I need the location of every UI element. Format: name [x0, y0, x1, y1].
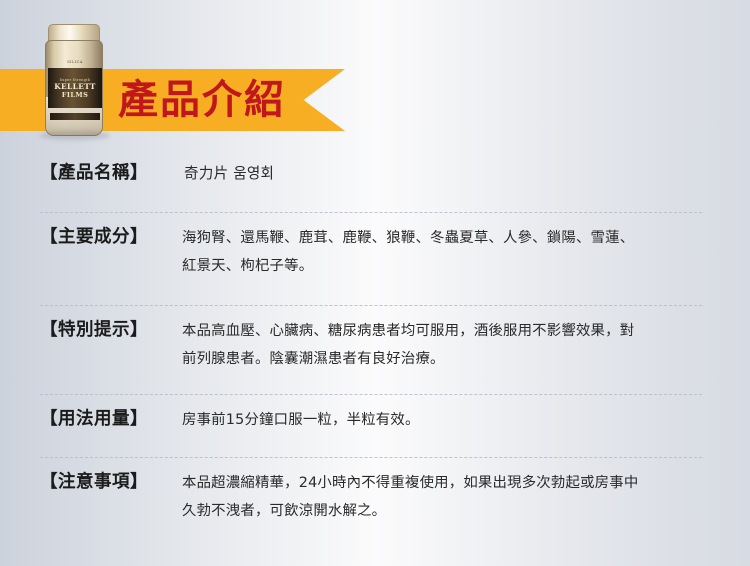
page-header: 產品介紹 SILICA Super Strength KELLETT FILMS	[0, 0, 750, 150]
page-title: 產品介紹	[118, 74, 286, 126]
info-label: 【產品名稱】	[40, 159, 182, 187]
bottle-body: SILICA Super Strength KELLETT FILMS	[45, 40, 103, 136]
product-info-list: 【產品名稱】 奇力片 움영회 【主要成分】 海狗腎、還馬鞭、鹿茸、鹿鞭、狼鞭、冬…	[0, 150, 750, 550]
info-row-dosage: 【用法用量】 房事前15分鐘口服一粒，半粒有效。	[0, 395, 750, 457]
info-value: 房事前15分鐘口服一粒，半粒有效。	[182, 405, 706, 434]
info-value-line: 奇力片 움영회	[184, 160, 706, 188]
bottle-sub-brand-text: FILMS	[62, 92, 88, 99]
info-value-line: 海狗腎、還馬鞭、鹿茸、鹿鞭、狼鞭、冬蟲夏草、人參、鎖陽、雪蓮、	[182, 224, 706, 252]
bottle-brand-text: KELLETT	[54, 83, 96, 91]
info-value-line: 前列腺患者。陰囊潮濕患者有良好治療。	[182, 345, 706, 373]
info-label: 【注意事項】	[40, 468, 182, 496]
bottle-label-footer	[50, 113, 100, 120]
info-row-main-ingredients: 【主要成分】 海狗腎、還馬鞭、鹿茸、鹿鞭、狼鞭、冬蟲夏草、人參、鎖陽、雪蓮、 紅…	[0, 213, 750, 305]
info-value: 海狗腎、還馬鞭、鹿茸、鹿鞭、狼鞭、冬蟲夏草、人參、鎖陽、雪蓮、 紅景天、枸杞子等…	[182, 223, 706, 280]
info-value: 本品超濃縮精華，24小時內不得重複使用，如果出現多次勃起或房事中 久勃不洩者，可…	[182, 468, 706, 525]
product-bottle-image: SILICA Super Strength KELLETT FILMS	[45, 24, 103, 136]
bottle-label: Super Strength KELLETT FILMS	[48, 68, 102, 108]
info-value: 奇力片 움영회	[182, 159, 706, 188]
bottle-shadow	[40, 131, 110, 140]
info-row-product-name: 【產品名稱】 奇力片 움영회	[0, 150, 750, 212]
bottle-label-top-text: Super Strength	[60, 78, 91, 82]
info-value: 本品高血壓、心臟病、糖尿病患者均可服用，酒後服用不影響效果，對 前列腺患者。陰囊…	[182, 316, 706, 373]
info-value-line: 本品高血壓、心臟病、糖尿病患者均可服用，酒後服用不影響效果，對	[182, 317, 706, 345]
info-label: 【特別提示】	[40, 316, 182, 344]
info-value-line: 本品超濃縮精華，24小時內不得重複使用，如果出現多次勃起或房事中	[182, 469, 706, 497]
info-value-line: 久勃不洩者，可飲涼開水解之。	[182, 497, 706, 525]
info-label: 【用法用量】	[40, 405, 182, 433]
info-label: 【主要成分】	[40, 223, 182, 251]
bottle-cap-text: SILICA	[46, 60, 103, 64]
product-introduction-page: 產品介紹 SILICA Super Strength KELLETT FILMS…	[0, 0, 750, 566]
info-value-line: 房事前15分鐘口服一粒，半粒有效。	[182, 406, 706, 434]
info-row-special-notice: 【特別提示】 本品高血壓、心臟病、糖尿病患者均可服用，酒後服用不影響效果，對 前…	[0, 306, 750, 394]
info-row-precautions: 【注意事項】 本品超濃縮精華，24小時內不得重複使用，如果出現多次勃起或房事中 …	[0, 458, 750, 550]
info-value-line: 紅景天、枸杞子等。	[182, 252, 706, 280]
